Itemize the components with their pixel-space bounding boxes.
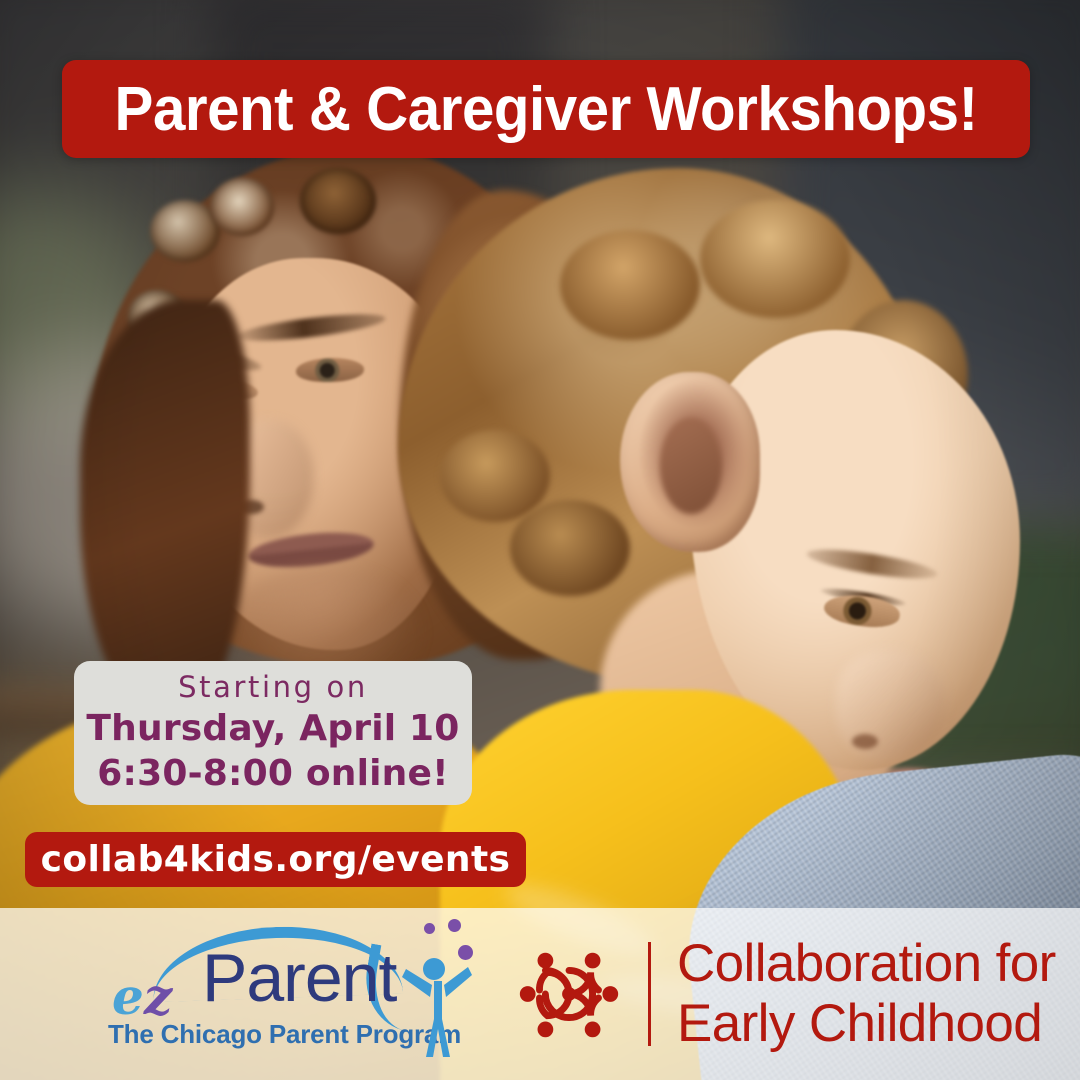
page-title: Parent & Caregiver Workshops! xyxy=(114,74,977,145)
ez-letter-z: z xyxy=(144,967,172,1026)
confetti-dot-icon xyxy=(448,919,461,932)
collaboration-wordmark: Collaboration for Early Childhood xyxy=(677,934,1056,1055)
ez-letter-e: e xyxy=(112,967,144,1026)
website-url-banner[interactable]: collab4kids.org/events xyxy=(25,832,526,887)
website-url[interactable]: collab4kids.org/events xyxy=(41,839,511,880)
pinwheel-people-icon xyxy=(510,935,628,1053)
event-details-box: Starting on Thursday, April 10 6:30-8:00… xyxy=(74,661,472,805)
ezparent-logo: ez Parent The Chicago Parent Program xyxy=(52,919,472,1069)
event-time: 6:30-8:00 online! xyxy=(97,751,448,796)
poster-canvas: Parent & Caregiver Workshops! Starting o… xyxy=(0,0,1080,1080)
ezparent-parent-text: Parent xyxy=(202,939,396,1017)
celebrating-child-icon xyxy=(400,949,472,1059)
logo-divider xyxy=(648,942,651,1046)
title-banner: Parent & Caregiver Workshops! xyxy=(62,60,1030,158)
event-date: Thursday, April 10 xyxy=(86,706,459,751)
event-prefix: Starting on xyxy=(178,672,368,704)
collaboration-line-2: Early Childhood xyxy=(677,994,1056,1054)
collaboration-early-childhood-logo: Collaboration for Early Childhood xyxy=(510,934,1056,1055)
ezparent-ez-text: ez xyxy=(112,967,172,1026)
confetti-dot-icon xyxy=(424,923,435,934)
collaboration-line-1: Collaboration for xyxy=(677,934,1056,994)
footer-logo-band: ez Parent The Chicago Parent Program xyxy=(0,908,1080,1080)
